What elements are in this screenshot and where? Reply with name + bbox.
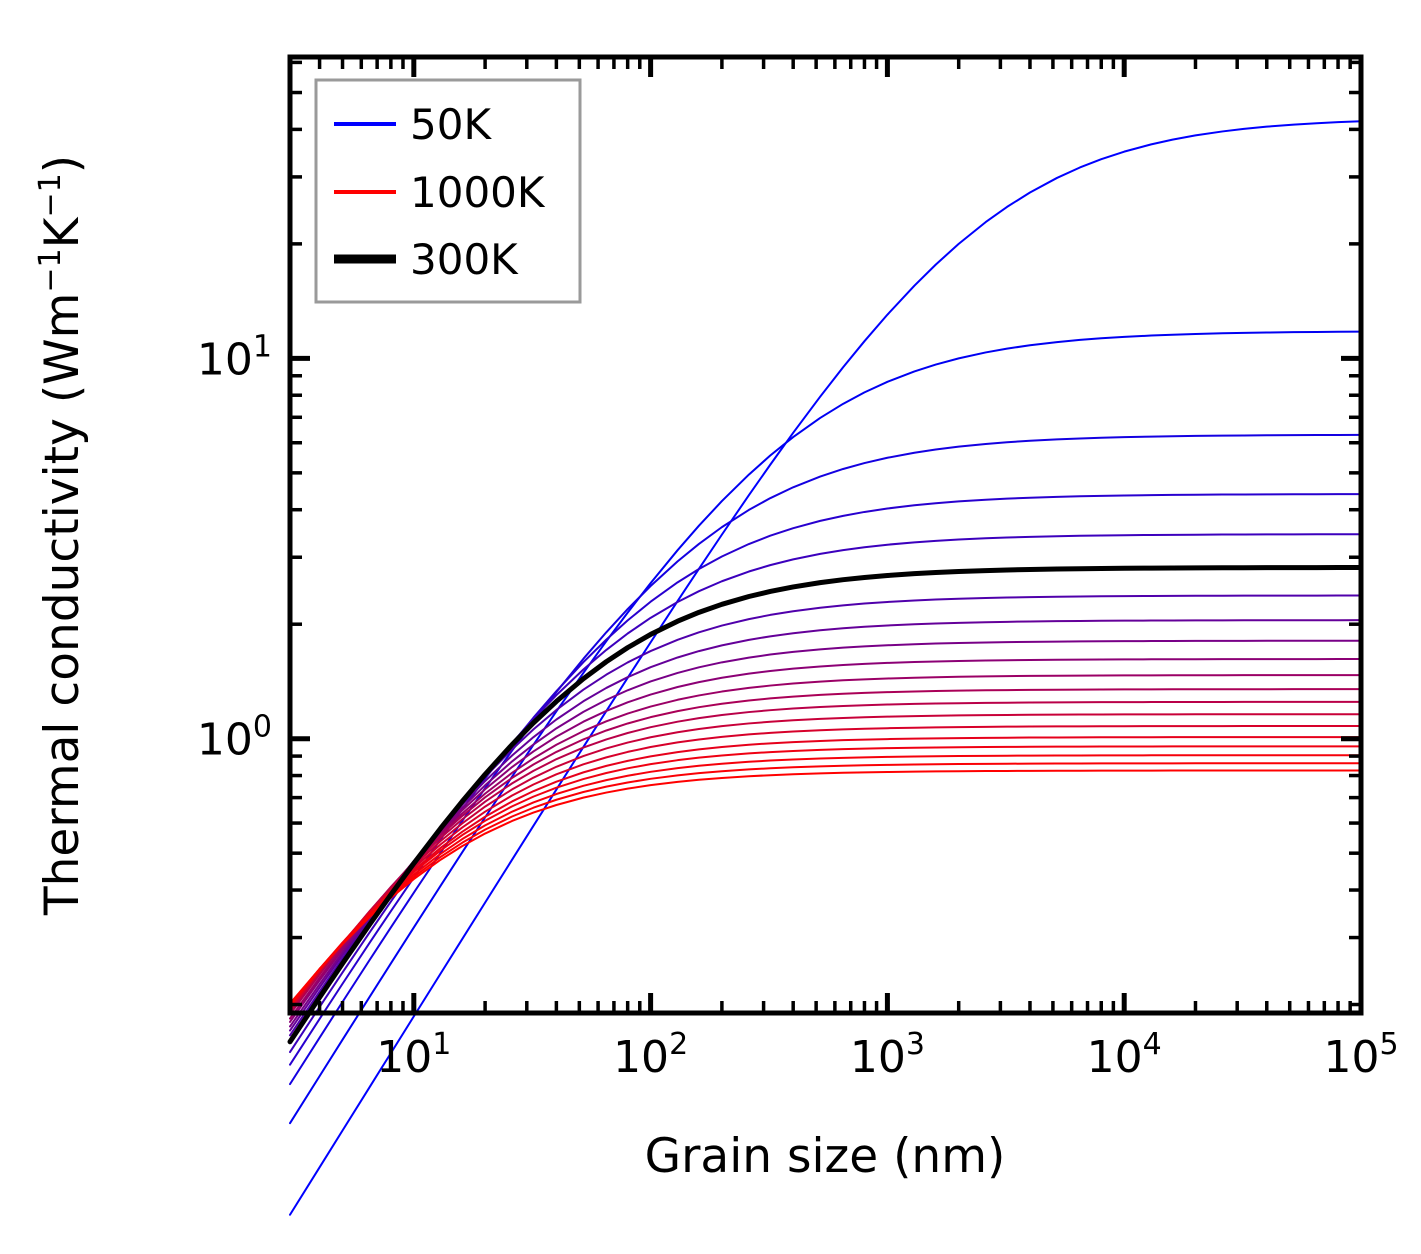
legend-label-50k: 50K xyxy=(410,100,492,149)
x-axis-label: Grain size (nm) xyxy=(645,1129,1006,1184)
figure-canvas: 101102103104105 101100 Grain size (nm) T… xyxy=(0,0,1421,1254)
legend: 50K 1000K 300K xyxy=(316,80,580,302)
figure-background xyxy=(0,0,1421,1254)
chart-svg: 101102103104105 101100 Grain size (nm) T… xyxy=(0,0,1421,1254)
legend-label-300k: 300K xyxy=(410,235,519,284)
legend-label-1000k: 1000K xyxy=(410,168,546,217)
